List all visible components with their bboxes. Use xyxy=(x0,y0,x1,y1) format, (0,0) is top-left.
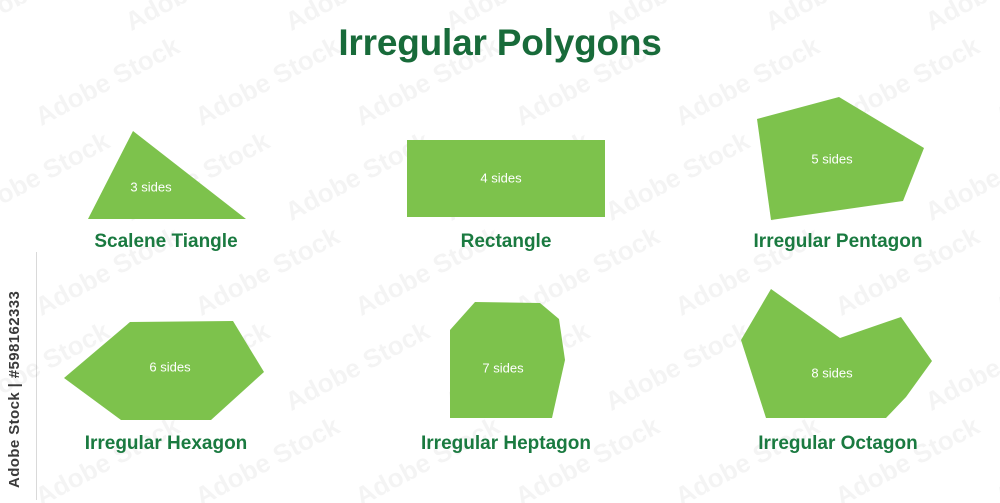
shape-label-scalene-triangle: Scalene Tiangle xyxy=(40,231,292,253)
shape-label-irregular-pentagon: Irregular Pentagon xyxy=(712,231,964,253)
sides-count-text-irregular-hexagon: 6 sides xyxy=(149,359,191,374)
sides-count-text-irregular-pentagon: 5 sides xyxy=(811,151,853,166)
sides-count-text-irregular-octagon: 8 sides xyxy=(811,365,853,380)
sides-count-text-rectangle: 4 sides xyxy=(480,170,522,185)
shape-label-irregular-octagon: Irregular Octagon xyxy=(712,433,964,455)
polygon-diagram-canvas: Adobe Stock | #598162333 Adobe StockAdob… xyxy=(0,0,1000,503)
polygon-scalene-triangle xyxy=(88,131,246,219)
sides-count-text-irregular-heptagon: 7 sides xyxy=(482,360,524,375)
shape-label-irregular-hexagon: Irregular Hexagon xyxy=(40,433,292,455)
shape-label-rectangle: Rectangle xyxy=(380,231,632,253)
shape-label-irregular-heptagon: Irregular Heptagon xyxy=(380,433,632,455)
polygon-irregular-octagon xyxy=(741,289,932,418)
sides-count-text-scalene-triangle: 3 sides xyxy=(130,179,172,194)
